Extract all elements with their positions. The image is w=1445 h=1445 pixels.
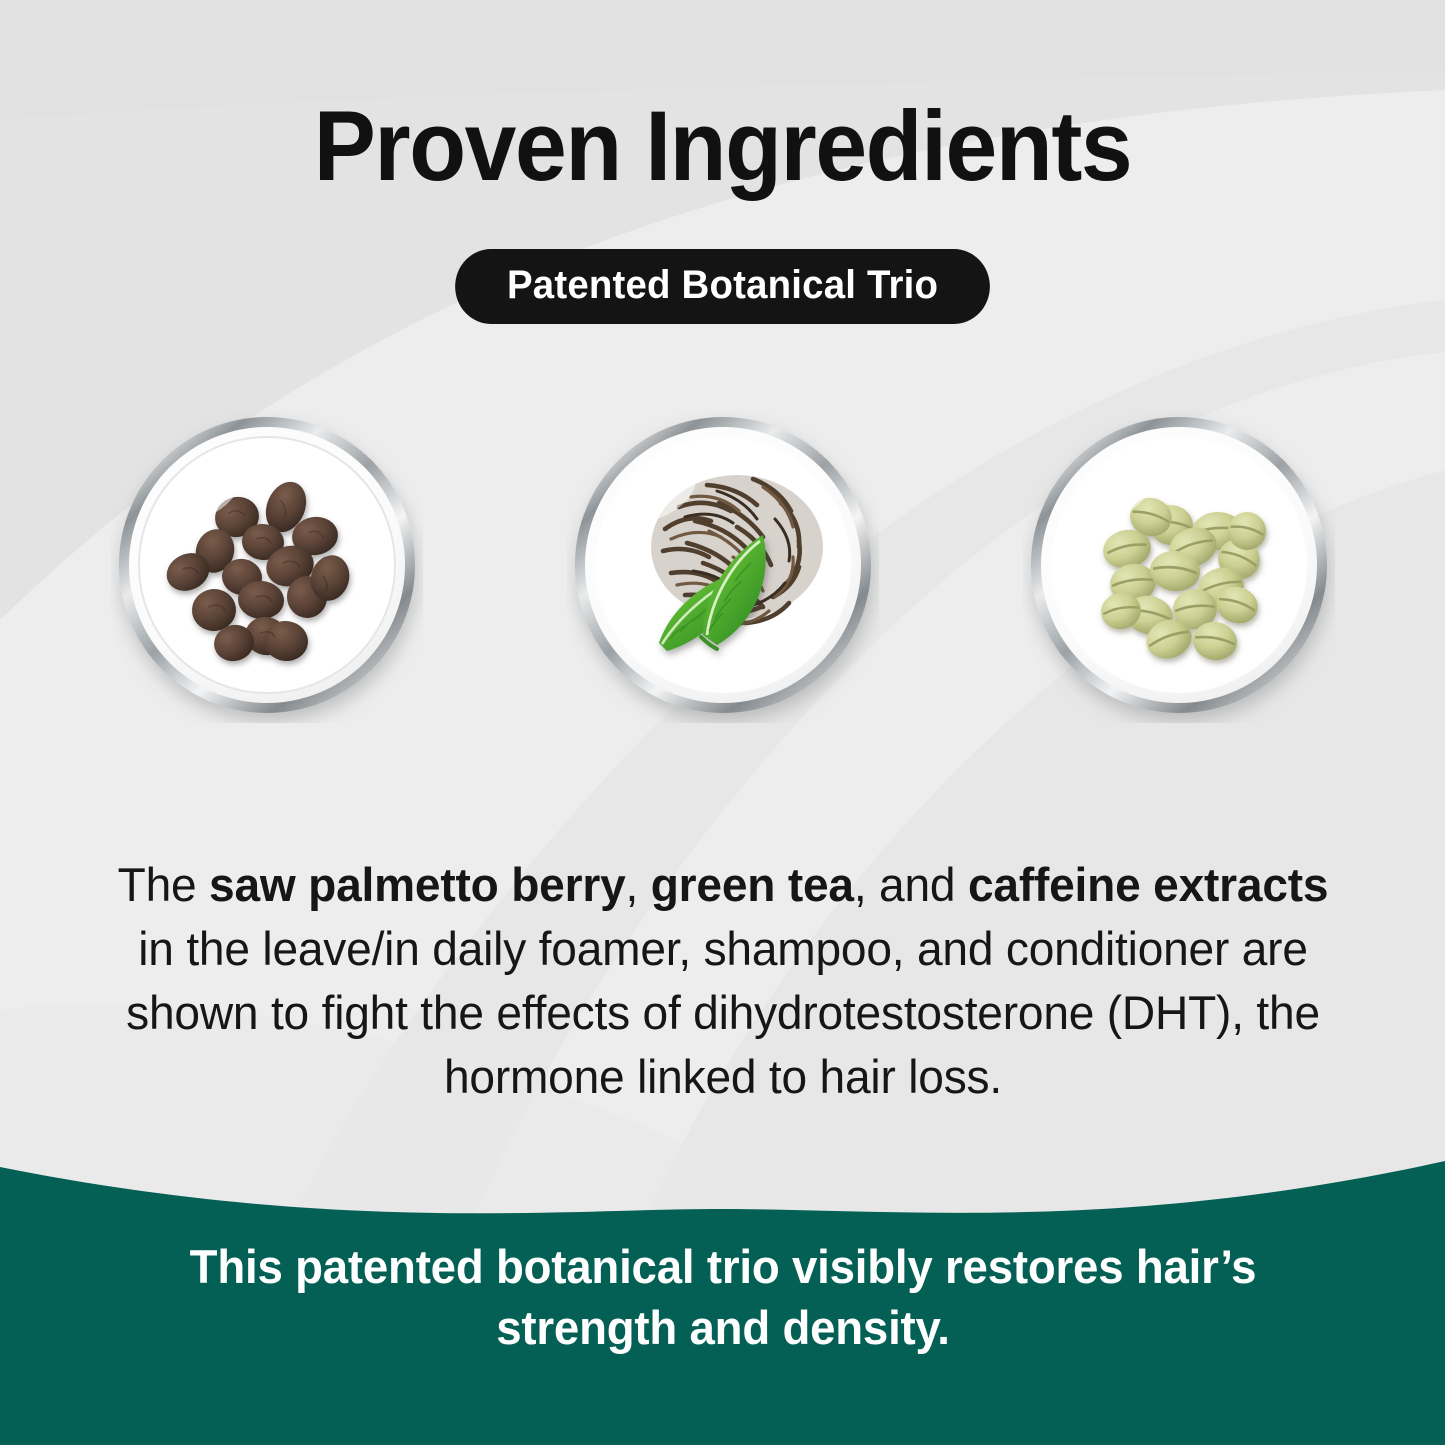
bold-caffeine-extracts: caffeine extracts <box>967 859 1327 912</box>
body-sep-2: , and <box>853 859 967 912</box>
ingredient-dish-row <box>0 411 1445 723</box>
ingredient-dish-green-tea <box>567 411 879 723</box>
marketing-infographic: Proven Ingredients Patented Botanical Tr… <box>0 0 1445 1445</box>
badge-container: Patented Botanical Trio <box>0 249 1445 324</box>
body-sep-1: , <box>625 859 650 912</box>
bold-saw-palmetto: saw palmetto berry <box>209 859 625 912</box>
page-title: Proven Ingredients <box>43 96 1401 197</box>
bold-green-tea: green tea <box>650 859 853 912</box>
body-lead: The <box>117 859 208 912</box>
footer-headline: This patented botanical trio visibly res… <box>121 1236 1324 1358</box>
ingredient-dish-saw-palmetto-berry <box>111 411 423 723</box>
ingredient-description: The saw palmetto berry, green tea, and c… <box>99 854 1345 1110</box>
ingredient-dish-caffeine-green-coffee <box>1023 411 1335 723</box>
body-rest: in the leave/in daily foamer, shampoo, a… <box>126 923 1320 1104</box>
footer-banner: This patented botanical trio visibly res… <box>0 1127 1445 1445</box>
status-badge: Patented Botanical Trio <box>455 249 990 324</box>
